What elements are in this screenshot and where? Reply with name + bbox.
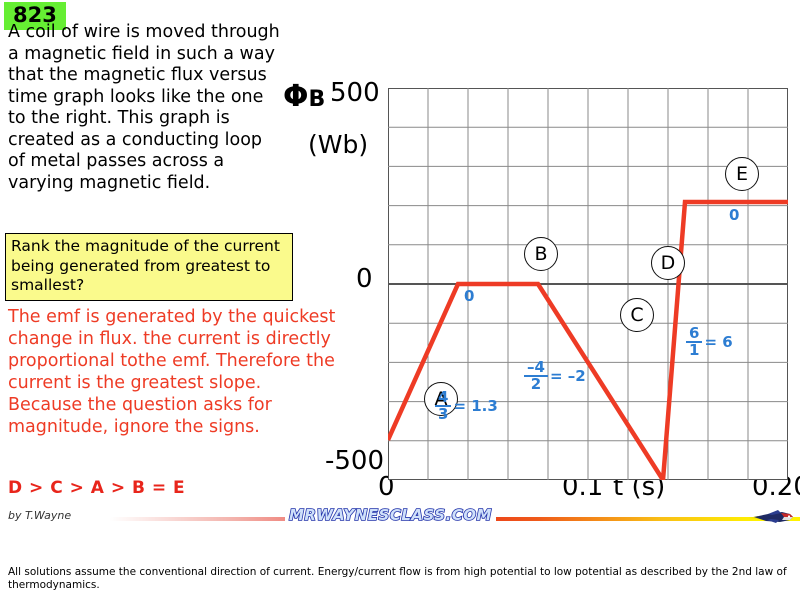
y-tick-label-top: 500 (330, 78, 380, 108)
slope-c-value: –2 (568, 367, 586, 385)
region-label-b: B (524, 237, 558, 271)
flux-vs-time-graph: A B C D E 4 3 = 1.3 0 –4 2 = –2 6 1 = 6 … (388, 88, 788, 480)
slope-d-value: 6 (722, 333, 732, 351)
slope-a-denominator: 3 (435, 407, 451, 422)
y-axis-units: (Wb) (308, 132, 368, 157)
slope-d-denominator: 1 (686, 343, 702, 358)
jet-plane-icon (748, 507, 794, 527)
slope-annotation-c: –4 2 = –2 (524, 360, 586, 393)
solution-answer: D > C > A > B = E (8, 478, 185, 498)
region-label-d: D (651, 246, 685, 280)
y-axis-title-subscript: B (309, 87, 326, 112)
slope-a-value: 1.3 (471, 397, 498, 415)
disclaimer-text: All solutions assume the conventional di… (8, 566, 788, 593)
solution-explanation: The emf is generated by the quickest cha… (8, 306, 338, 438)
y-axis-title: ΦB (283, 82, 325, 112)
slope-annotation-e: 0 (729, 206, 739, 224)
y-axis-title-symbol: Φ (283, 79, 309, 114)
author-byline: by T.Wayne (8, 509, 71, 522)
y-tick-label-zero: 0 (356, 264, 373, 294)
y-tick-label-bottom: -500 (325, 446, 384, 476)
region-label-e: E (725, 157, 759, 191)
slope-annotation-a: 4 3 = 1.3 (435, 390, 498, 423)
website-banner: MRWAYNESCLASS.COM (285, 506, 496, 524)
question-box: Rank the magnitude of the current being … (5, 233, 293, 301)
region-label-c: C (620, 298, 654, 332)
slope-annotation-b: 0 (464, 287, 474, 305)
slope-annotation-d: 6 1 = 6 (686, 326, 733, 359)
slope-c-denominator: 2 (528, 377, 544, 392)
problem-statement: A coil of wire is moved through a magnet… (8, 22, 284, 194)
